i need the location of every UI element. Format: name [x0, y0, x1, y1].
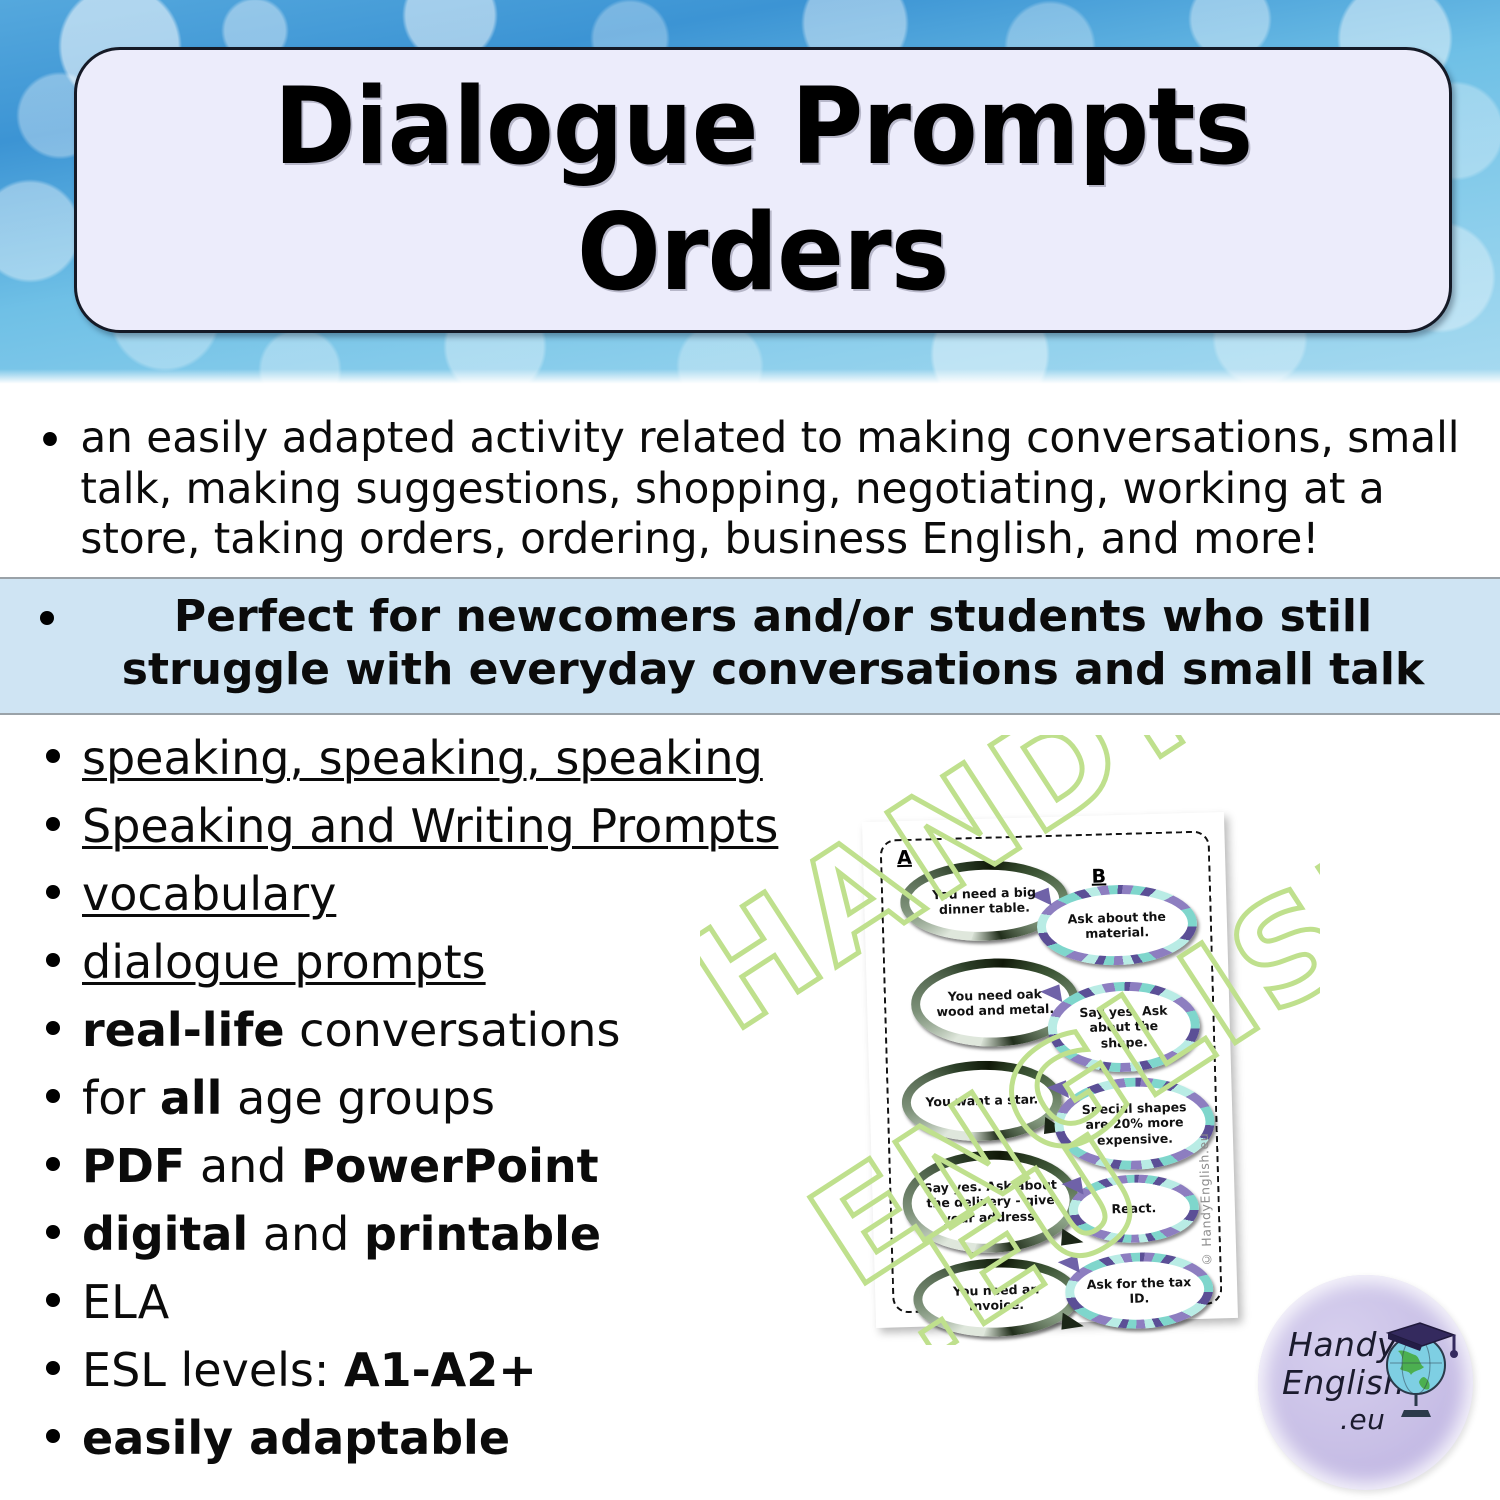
bubble-inner: React.: [1077, 1182, 1190, 1235]
intro-bullet-list: an easily adapted activity related to ma…: [0, 385, 1500, 565]
highlighted-bullet-band: Perfect for newcomers and/or students wh…: [0, 577, 1500, 715]
bubble-tail-icon: [1046, 1080, 1069, 1101]
list-item-label-mid: and: [248, 1207, 364, 1261]
list-item: real-life conversations: [0, 1003, 1500, 1071]
brand-logo[interactable]: Handy English .eu: [1258, 1275, 1473, 1490]
list-item-label-lead: for: [82, 1071, 160, 1125]
list-item-label: conversations: [285, 1003, 621, 1057]
globe-graduation-cap-icon: [1370, 1311, 1462, 1423]
page-title-line-2: Orders: [577, 199, 949, 307]
list-item: vocabulary: [0, 867, 1500, 935]
list-item-label-bold: A1-A2+: [344, 1343, 537, 1397]
list-item-label-bold-2: PowerPoint: [301, 1139, 599, 1193]
list-item-label-mid: and: [185, 1139, 301, 1193]
bubble-inner: Ask about the material.: [1045, 892, 1189, 958]
list-item-label-lead: ESL levels:: [82, 1343, 344, 1397]
list-item: speaking, speaking, speaking: [0, 731, 1500, 799]
banner-fade: [0, 369, 1500, 385]
worksheet-page: A B You need a big dinner table. You nee…: [862, 812, 1238, 1328]
bubble-tail-icon: [1057, 1255, 1080, 1276]
list-item-label: speaking, speaking, speaking: [82, 731, 763, 785]
list-item-label: dialogue prompts: [82, 935, 486, 989]
list-item-label-bold: all: [160, 1071, 223, 1125]
bubble-inner: Say yes. Ask about the shape.: [1056, 989, 1192, 1065]
list-item-label: Speaking and Writing Prompts: [82, 799, 778, 853]
title-box: Dialogue Prompts Orders: [74, 47, 1452, 333]
list-item-label: vocabulary: [82, 867, 336, 921]
bubble-inner: You need an invoice.: [922, 1266, 1072, 1330]
list-item: for all age groups: [0, 1071, 1500, 1139]
list-item-label-bold: easily adaptable: [82, 1411, 510, 1465]
bubble-tail-icon: [1061, 1229, 1084, 1248]
list-item-label-bold: real-life: [82, 1003, 285, 1057]
bubble-inner: You want a star.: [910, 1068, 1054, 1134]
list-item-label-bold: digital: [82, 1207, 248, 1261]
page-title-line-1: Dialogue Prompts: [274, 73, 1252, 181]
worksheet-preview[interactable]: A B You need a big dinner table. You nee…: [855, 795, 1255, 1340]
list-item: digital and printable: [0, 1207, 1500, 1275]
list-item-highlighted: Perfect for newcomers and/or students wh…: [0, 591, 1490, 697]
column-b-label: B: [1091, 865, 1106, 887]
bubble-inner: Ask for the tax ID.: [1073, 1260, 1205, 1322]
list-item: an easily adapted activity related to ma…: [0, 413, 1462, 565]
list-item: Speaking and Writing Prompts: [0, 799, 1500, 867]
list-item-label: ELA: [82, 1275, 169, 1329]
bubble-inner: Say yes. Ask about the delivery - give y…: [911, 1158, 1071, 1246]
bubble-inner: Special shapes are 20% more expensive.: [1063, 1085, 1207, 1163]
column-a-label: A: [897, 847, 912, 869]
bubble-tail-icon: [1061, 1177, 1084, 1198]
list-item-label: age groups: [222, 1071, 495, 1125]
list-item: PDF and PowerPoint: [0, 1139, 1500, 1207]
list-item: dialogue prompts: [0, 935, 1500, 1003]
list-item-label-bold: PDF: [82, 1139, 185, 1193]
list-item-label-bold-2: printable: [364, 1207, 601, 1261]
